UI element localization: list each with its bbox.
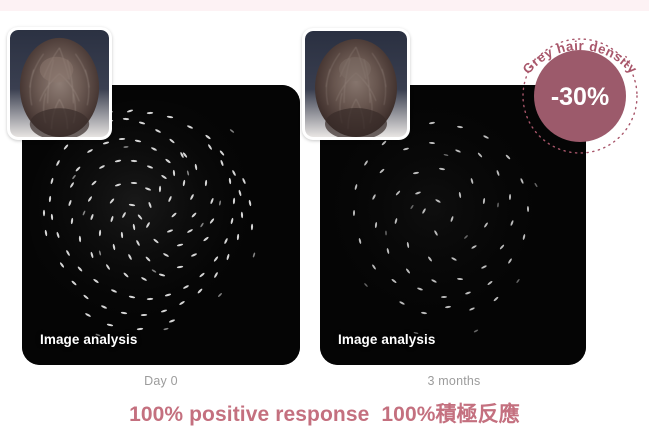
caption-day-0: Day 0	[0, 374, 322, 388]
top-accent-band	[0, 0, 649, 11]
caption-3-months: 3 months	[322, 374, 586, 388]
badge-value: -30%	[551, 83, 609, 111]
scalp-photo-3-months	[302, 28, 410, 140]
image-analysis-comparison-slide: Image analysis	[0, 0, 649, 429]
grey-hair-density-badge: Grey hair density -30%	[508, 24, 649, 168]
panel-overlay-label-3-months: Image analysis	[338, 332, 435, 347]
headline-english: 100% positive response	[129, 403, 369, 426]
headline-chinese: 100%積極反應	[381, 403, 520, 426]
panel-overlay-label-day-0: Image analysis	[40, 332, 137, 347]
headline: 100% positive response100%積極反應	[0, 398, 649, 428]
scalp-photo-day-0	[7, 27, 112, 140]
